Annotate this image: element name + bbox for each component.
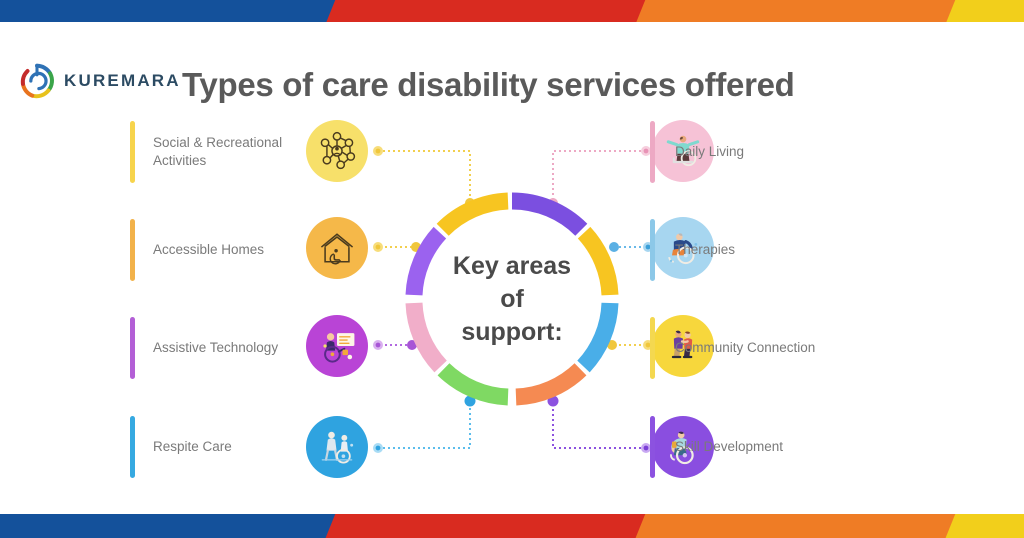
accent-bar — [650, 219, 655, 281]
stripe-blue — [0, 0, 347, 22]
item-label: Therapies — [675, 241, 865, 259]
stripe-blue — [0, 514, 347, 538]
accent-bar — [130, 121, 135, 183]
center-line-2: of — [500, 283, 524, 316]
stripe-yellow — [943, 514, 1024, 538]
accent-bar — [130, 219, 135, 281]
center-label: Key areas of support: — [397, 184, 627, 414]
accessible-house-icon[interactable] — [306, 217, 368, 279]
stripe-orange — [633, 0, 967, 22]
accent-bar — [650, 317, 655, 379]
social-network-icon[interactable] — [306, 120, 368, 182]
bottom-color-stripe-bar — [0, 514, 1024, 538]
item-label: Daily Living — [675, 143, 865, 161]
accent-bar — [130, 317, 135, 379]
item-daily-living[interactable]: Daily Living — [650, 114, 950, 190]
infographic-page: KUREMARA Types of care disability servic… — [0, 0, 1024, 538]
kuremara-swirl-logo-icon — [18, 62, 56, 100]
accent-bar — [130, 416, 135, 478]
item-skill-development[interactable]: Skill Development — [650, 409, 950, 485]
accent-bar — [650, 121, 655, 183]
accent-bar — [650, 416, 655, 478]
stripe-red — [323, 0, 657, 22]
stripe-yellow — [943, 0, 1024, 22]
assistive-technology-icon[interactable] — [306, 315, 368, 377]
stripe-orange — [633, 514, 967, 538]
item-label: Community Connection — [675, 339, 865, 357]
brand-logo[interactable]: KUREMARA — [18, 62, 181, 100]
page-title: Types of care disability services offere… — [182, 66, 795, 104]
respite-care-icon[interactable] — [306, 416, 368, 478]
center-line-3: support: — [461, 316, 562, 349]
top-color-stripe-bar — [0, 0, 1024, 22]
stripe-red — [323, 514, 657, 538]
item-therapies[interactable]: Therapies — [650, 212, 950, 288]
item-label: Skill Development — [675, 438, 865, 456]
item-community-connection[interactable]: Community Connection — [650, 310, 950, 386]
diagram-area: Key areas of support: Social & Recreatio… — [0, 104, 1024, 514]
header: KUREMARA Types of care disability servic… — [0, 22, 1024, 110]
logo-wordmark: KUREMARA — [64, 71, 181, 91]
center-line-1: Key areas — [453, 250, 571, 283]
